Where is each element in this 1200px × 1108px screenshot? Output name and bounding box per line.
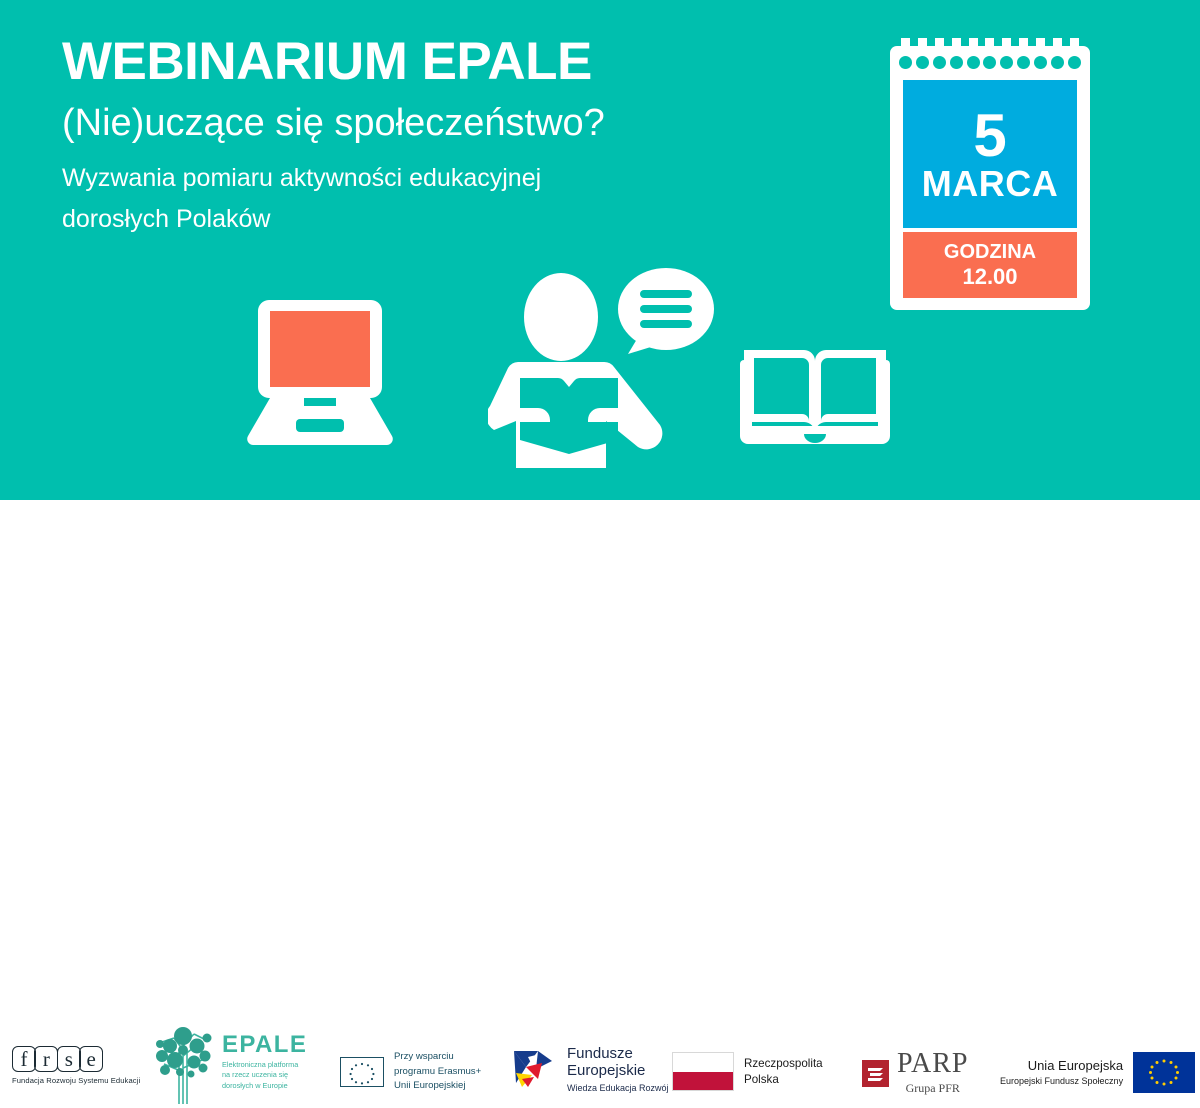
calendar-body: 5 MARCA GODZINA 12.00 [890, 46, 1090, 310]
unia-europejska-logo: Unia Europejska Europejski Fundusz Społe… [1000, 1052, 1195, 1093]
erasmus-plus-logo: Przy wsparciu programu Erasmus+ Unii Eur… [340, 1050, 481, 1094]
frse-letter: e [79, 1046, 103, 1072]
erasmus-caption: Przy wsparciu programu Erasmus+ Unii Eur… [394, 1050, 481, 1094]
laptop-icon [240, 300, 400, 450]
calendar-ring-dot [1068, 56, 1081, 69]
fundusze-star-icon [512, 1049, 558, 1089]
page-title: WEBINARIUM EPALE [62, 34, 822, 90]
hero-section: WEBINARIUM EPALE (Nie)uczące się społecz… [0, 0, 1200, 500]
calendar-month: MARCA [922, 166, 1058, 202]
frse-letter: s [57, 1046, 81, 1072]
frse-logo: f r s e Fundacja Rozwoju Systemu Edukacj… [12, 1046, 140, 1085]
title-block: WEBINARIUM EPALE (Nie)uczące się społecz… [62, 34, 822, 239]
calendar-ring-dot [933, 56, 946, 69]
calendar-ring-dot [1017, 56, 1030, 69]
calendar-ring-dot [916, 56, 929, 69]
frse-mark: f r s e [12, 1046, 140, 1072]
epale-tagline: Elektroniczna platforma na rzecz uczenia… [222, 1060, 307, 1091]
eu-flag-outline-icon [340, 1057, 384, 1087]
page-description: Wyzwania pomiaru aktywności edukacyjnej … [62, 158, 822, 239]
fe-line-2: Europejskie [567, 1063, 669, 1080]
calendar-day: 5 [973, 107, 1006, 164]
page-subtitle: (Nie)uczące się społeczeństwo? [62, 100, 822, 146]
frse-letter: r [34, 1046, 58, 1072]
rzeczpospolita-polska-logo: Rzeczpospolita Polska [672, 1052, 823, 1091]
erasmus-line-2: programu Erasmus+ [394, 1065, 481, 1080]
calendar-widget: 5 MARCA GODZINA 12.00 [890, 38, 1090, 310]
calendar-date-panel: 5 MARCA [903, 80, 1077, 228]
ue-line-2: Europejski Fundusz Społeczny [1000, 1076, 1123, 1086]
epale-wordmark: EPALE [222, 1033, 307, 1057]
webinar-banner: WEBINARIUM EPALE (Nie)uczące się społecz… [0, 0, 1200, 628]
rp-line-2: Polska [744, 1072, 823, 1087]
fundusze-europejskie-logo: Fundusze Europejskie Wiedza Edukacja Roz… [512, 1046, 669, 1093]
calendar-ring-dot [983, 56, 996, 69]
erasmus-line-3: Unii Europejskiej [394, 1079, 481, 1094]
erasmus-line-1: Przy wsparciu [394, 1050, 481, 1065]
frse-caption: Fundacja Rozwoju Systemu Edukacji [12, 1076, 140, 1085]
calendar-hour-label: GODZINA [944, 240, 1036, 264]
parp-mark-icon [862, 1060, 889, 1087]
calendar-ring-dot [1034, 56, 1047, 69]
epale-logo: EPALE Elektroniczna platforma na rzecz u… [150, 1016, 307, 1108]
calendar-ring-dot [1000, 56, 1013, 69]
calendar-hour-value: 12.00 [962, 264, 1017, 290]
calendar-ring-dots [890, 56, 1090, 72]
ue-line-1: Unia Europejska [1000, 1059, 1123, 1073]
rp-line-1: Rzeczpospolita [744, 1056, 823, 1071]
calendar-ring-dot [899, 56, 912, 69]
footer-logos: f r s e Fundacja Rozwoju Systemu Edukacj… [0, 500, 1200, 628]
frse-letter: f [12, 1046, 36, 1072]
epale-tagline-line-3: dorosłych w Europie [222, 1081, 307, 1091]
parp-logo: PARP Grupa PFR [862, 1050, 968, 1096]
fe-line-1: Fundusze [567, 1046, 669, 1063]
eu-flag-icon [1133, 1052, 1195, 1093]
epale-tagline-line-2: na rzecz uczenia się [222, 1070, 307, 1080]
rp-caption: Rzeczpospolita Polska [744, 1056, 823, 1087]
fe-line-3: Wiedza Edukacja Rozwój [567, 1083, 669, 1093]
parp-subtitle: Grupa PFR [897, 1081, 968, 1096]
ue-caption: Unia Europejska Europejski Fundusz Społe… [1000, 1059, 1123, 1085]
parp-wordmark: PARP [897, 1050, 968, 1078]
calendar-ring-dot [1051, 56, 1064, 69]
calendar-ring-dot [967, 56, 980, 69]
poland-flag-icon [672, 1052, 734, 1091]
calendar-time-panel: GODZINA 12.00 [903, 232, 1077, 298]
description-line-1: Wyzwania pomiaru aktywności edukacyjnej [62, 158, 822, 199]
calendar-ring-dot [950, 56, 963, 69]
epale-tree-icon [150, 1016, 216, 1108]
open-book-icon [740, 338, 890, 453]
epale-tagline-line-1: Elektroniczna platforma [222, 1060, 307, 1070]
speech-bubble-icon [618, 268, 714, 354]
person-reading-icon [488, 262, 728, 479]
description-line-2: dorosłych Polaków [62, 199, 822, 240]
